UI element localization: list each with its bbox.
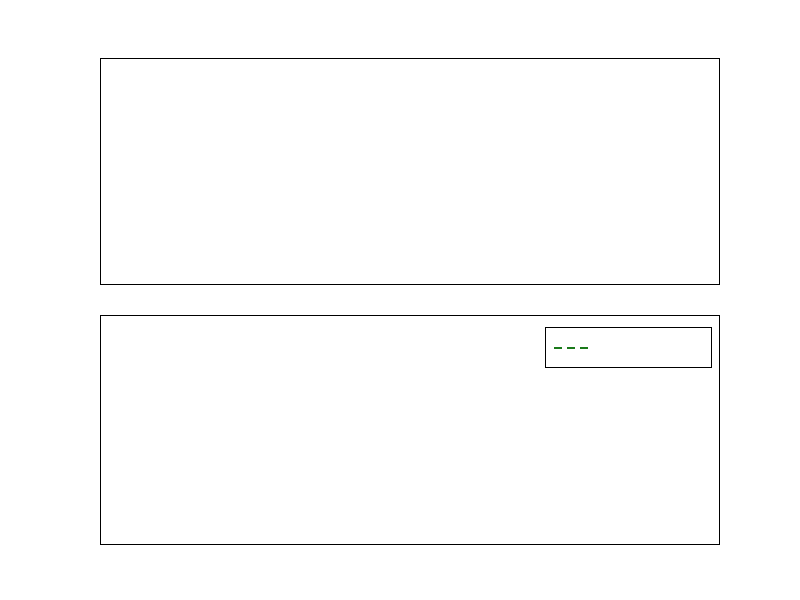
figure [0, 0, 800, 600]
legend-line-sample [546, 328, 711, 367]
differential-histogram-axes [100, 58, 720, 285]
differential-histogram-plot-area [101, 59, 719, 284]
differential-histogram-bars [101, 59, 719, 284]
legend [545, 327, 712, 368]
